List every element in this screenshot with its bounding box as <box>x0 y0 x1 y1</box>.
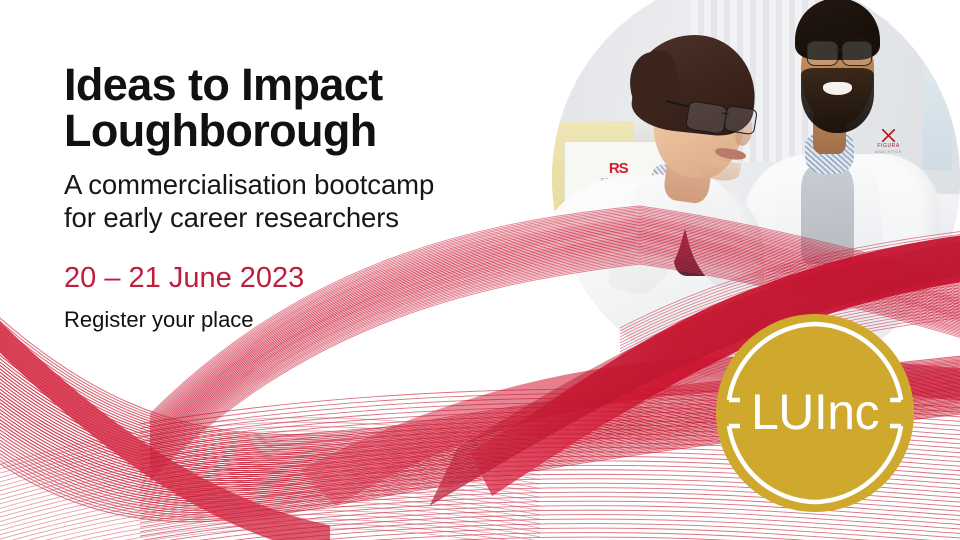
researcher-b-eyebrow-right <box>842 33 867 40</box>
researcher-b-eyebrow-left <box>808 33 833 40</box>
event-date: 20 – 21 June 2023 <box>64 263 434 295</box>
researcher-a-glasses-left <box>685 100 728 134</box>
lab-right-strip <box>923 0 952 170</box>
figura-analytics-logo: FIGURA ANALYTICS <box>862 117 915 166</box>
page-title: Ideas to Impact Loughborough <box>64 62 434 154</box>
researcher-a-glasses-right <box>724 104 758 135</box>
luinc-label: LUInc <box>716 314 914 512</box>
researcher-b-glasses-left <box>807 41 838 65</box>
figura-logo-mark-icon <box>882 129 895 142</box>
figura-logo-name: FIGURA <box>877 143 900 149</box>
promo-banner: RS SPILL KIT CHEMICAL <box>0 0 960 540</box>
researcher-b-inner-top <box>801 166 854 264</box>
luinc-logo-badge[interactable]: LUInc <box>716 314 914 512</box>
figura-logo-subtitle: ANALYTICS <box>875 150 902 154</box>
subtitle: A commercialisation bootcamp for early c… <box>64 168 434 235</box>
text-block: Ideas to Impact Loughborough A commercia… <box>64 62 434 332</box>
researcher-b-glasses-bridge <box>836 49 842 50</box>
researcher-b-glasses-right <box>842 41 873 65</box>
register-cta[interactable]: Register your place <box>64 308 434 332</box>
